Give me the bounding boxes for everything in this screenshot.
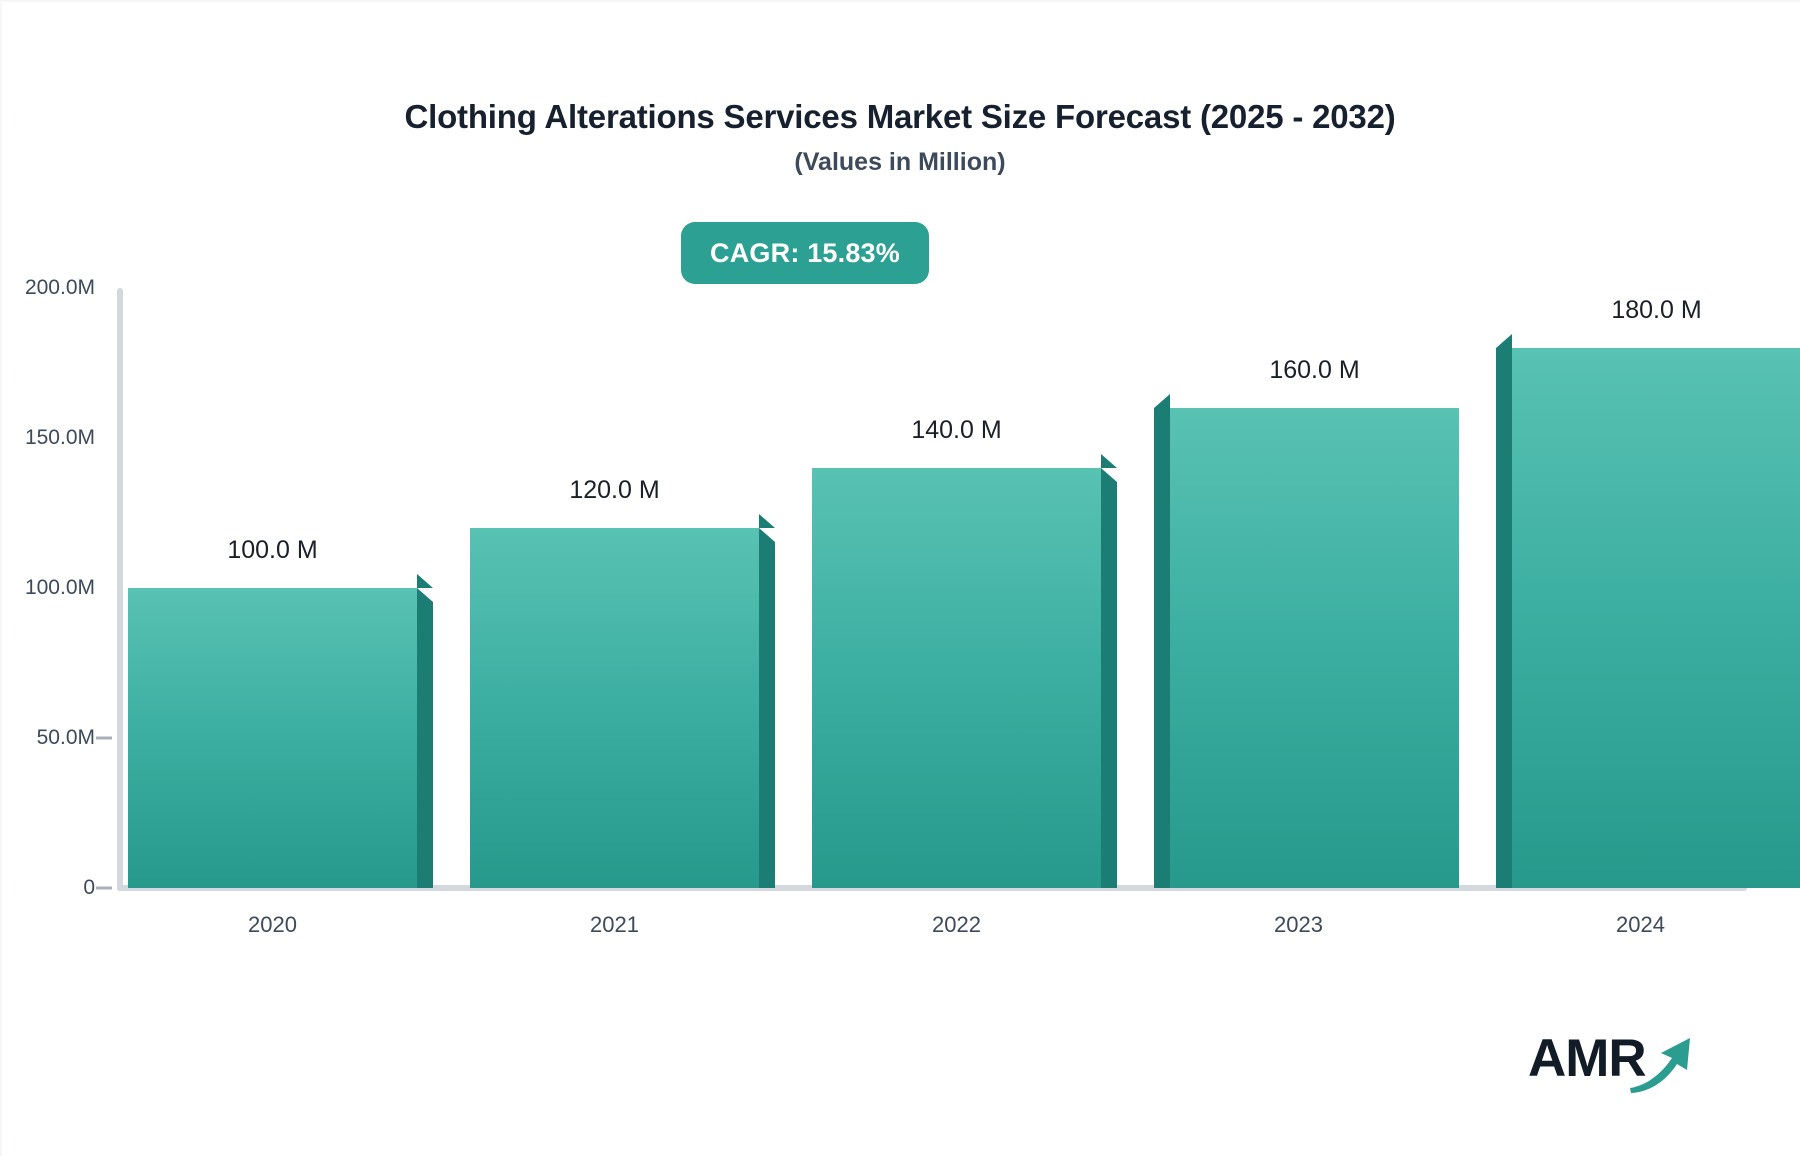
amr-logo: AMR (1528, 1030, 1688, 1100)
y-axis-line (117, 288, 123, 891)
bar-value-label: 140.0 M (911, 416, 1001, 445)
bar-2023[interactable] (1154, 394, 1459, 888)
bar-2024[interactable] (1496, 334, 1800, 888)
bar-front-face (128, 588, 417, 888)
bar-2020[interactable] (128, 574, 433, 888)
bar-top-bevel (759, 514, 775, 528)
bar-front-face (1170, 408, 1459, 888)
bar-2022[interactable] (812, 454, 1117, 888)
y-tick-label: 50.0M (37, 726, 95, 750)
y-tick-label: 200.0M (25, 276, 95, 300)
chart-page: Clothing Alterations Services Market Siz… (0, 0, 1800, 1156)
bar-side-face (759, 528, 775, 888)
bar-side-face (417, 588, 433, 888)
y-tick-mark (96, 737, 112, 740)
bar-side-face (1154, 408, 1170, 888)
bar-top-bevel (1154, 394, 1170, 408)
x-tick-label: 2021 (590, 912, 639, 938)
plot-area: 200.0M150.0M100.0M50.0M0 202020212022202… (0, 0, 1800, 1156)
x-tick-label: 2020 (248, 912, 297, 938)
y-tick-label: 100.0M (25, 576, 95, 600)
bar-value-label: 120.0 M (569, 476, 659, 505)
y-tick-mark (96, 887, 112, 890)
bar-front-face (1512, 348, 1800, 888)
y-tick-label: 0 (83, 876, 95, 900)
bar-front-face (470, 528, 759, 888)
bar-side-face (1496, 348, 1512, 888)
growth-arrow-icon (1628, 1032, 1698, 1094)
bar-top-bevel (1496, 334, 1512, 348)
x-tick-label: 2024 (1616, 912, 1665, 938)
bar-value-label: 160.0 M (1269, 356, 1359, 385)
bar-side-face (1101, 468, 1117, 888)
bar-front-face (812, 468, 1101, 888)
x-tick-label: 2023 (1274, 912, 1323, 938)
bar-top-bevel (1101, 454, 1117, 468)
bar-2021[interactable] (470, 514, 775, 888)
x-tick-label: 2022 (932, 912, 981, 938)
bar-top-bevel (417, 574, 433, 588)
bar-value-label: 100.0 M (227, 536, 317, 565)
y-tick-label: 150.0M (25, 426, 95, 450)
bar-value-label: 180.0 M (1611, 296, 1701, 325)
